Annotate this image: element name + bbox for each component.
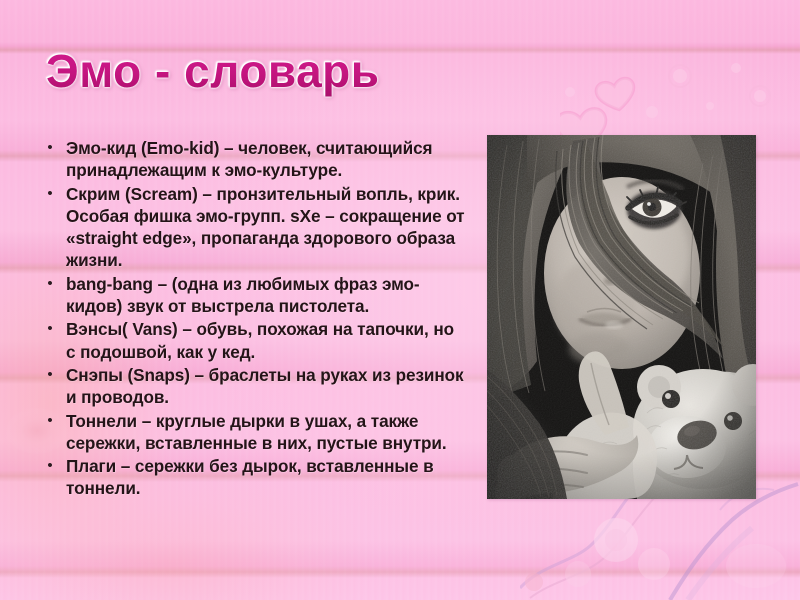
- list-item: • bang-bang – (одна из любимых фраз эмо-…: [34, 273, 466, 318]
- bullet-dot-icon: •: [34, 455, 66, 477]
- bullet-dot-icon: •: [34, 410, 66, 432]
- bullet-dot-icon: •: [34, 318, 66, 340]
- list-item-text: Тоннели – круглые дырки в ушах, а также …: [66, 410, 466, 455]
- slide-canvas: Эмо - словарь • Эмо-кид (Emo-kid) – чело…: [0, 0, 800, 600]
- hearts-decoration: [560, 52, 800, 148]
- bullet-dot-icon: •: [34, 364, 66, 386]
- list-item-text: Скрим (Scream) – пронзительный вопль, кр…: [66, 183, 466, 272]
- bullet-dot-icon: •: [34, 183, 66, 205]
- list-item: • Снэпы (Snaps) – браслеты на руках из р…: [34, 364, 466, 409]
- emo-girl-teddy-photo: [487, 135, 756, 499]
- hearts-icon: [560, 52, 800, 148]
- list-item: • Вэнсы( Vans) – обувь, похожая на тапоч…: [34, 318, 466, 363]
- list-item-text: Плаги – сережки без дырок, вставленные в…: [66, 455, 466, 500]
- list-item-text: Снэпы (Snaps) – браслеты на руках из рез…: [66, 364, 466, 409]
- bullet-dot-icon: •: [34, 137, 66, 159]
- list-item-text: Вэнсы( Vans) – обувь, похожая на тапочки…: [66, 318, 466, 363]
- list-item-text: Эмо-кид (Emo-kid) – человек, считающийся…: [66, 137, 466, 182]
- list-item: • Скрим (Scream) – пронзительный вопль, …: [34, 183, 466, 272]
- photo-illustration: [487, 135, 756, 499]
- list-item: • Эмо-кид (Emo-kid) – человек, считающий…: [34, 137, 466, 182]
- bullet-dot-icon: •: [34, 273, 66, 295]
- definition-list: • Эмо-кид (Emo-kid) – человек, считающий…: [34, 137, 466, 501]
- list-item: • Тоннели – круглые дырки в ушах, а такж…: [34, 410, 466, 455]
- list-item-text: bang-bang – (одна из любимых фраз эмо-ки…: [66, 273, 466, 318]
- page-title: Эмо - словарь: [46, 44, 380, 98]
- list-item: • Плаги – сережки без дырок, вставленные…: [34, 455, 466, 500]
